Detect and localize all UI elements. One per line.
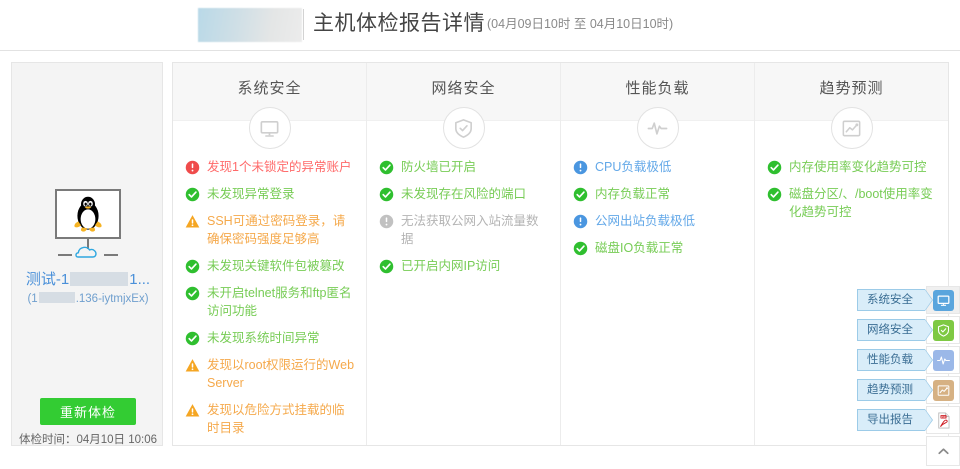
check-item-label: 内存负载正常 (595, 185, 744, 203)
check-item: 已开启内网IP访问 (379, 257, 550, 275)
column-title: 性能负载 (561, 78, 754, 100)
check-item: SSH可通过密码登录，请确保密码强度足够高 (185, 212, 356, 248)
cloud-icon (74, 245, 102, 259)
check-item-label: 发现1个未锁定的异常账户 (207, 158, 356, 176)
report-column-2: 网络安全 防火墙已开启 未发现存在风险的端口 无法获取公网入站流量数据 (367, 63, 561, 445)
host-os-visual (38, 187, 138, 263)
host-name-prefix: 测试-1 (26, 271, 69, 288)
check-item-status (185, 214, 200, 229)
status-ok-icon (767, 187, 782, 202)
pulse-icon (936, 353, 951, 368)
check-item: 未开启telnet服务和ftp匿名访问功能 (185, 284, 356, 320)
shield-icon (936, 323, 951, 338)
check-item-label: 磁盘分区/、/boot使用率变化趋势可控 (789, 185, 938, 221)
check-item-status (185, 286, 200, 301)
pulse-icon (646, 117, 669, 140)
float-nav-item-5[interactable]: 导出报告 PDF (856, 406, 960, 434)
check-item-list: 内存使用率变化趋势可控 磁盘分区/、/boot使用率变化趋势可控 (767, 158, 938, 230)
check-item-status (573, 241, 588, 256)
check-item-label: 发现以危险方式挂载的临时目录 (207, 401, 356, 437)
recheck-button[interactable]: 重新体检 (40, 398, 136, 425)
check-item-status (767, 160, 782, 175)
float-nav-label[interactable]: 网络安全 (857, 319, 925, 341)
check-item-label: CPU负载极低 (595, 158, 744, 176)
float-nav-item-4[interactable]: 趋势预测 (856, 376, 960, 404)
float-nav-label[interactable]: 导出报告 (857, 409, 925, 431)
check-item-label: 磁盘IO负载正常 (595, 239, 744, 257)
check-item: 内存负载正常 (573, 185, 744, 203)
check-item-status (573, 160, 588, 175)
check-item-status (185, 403, 200, 418)
check-item-list: CPU负载极低 内存负载正常 公网出站负载极低 磁盘IO负载正常 (573, 158, 744, 266)
check-item-label: SSH可通过密码登录，请确保密码强度足够高 (207, 212, 356, 248)
status-ok-icon (379, 259, 394, 274)
status-ok-icon (379, 160, 394, 175)
svg-text:PDF: PDF (940, 414, 946, 418)
check-item: 磁盘分区/、/boot使用率变化趋势可控 (767, 185, 938, 221)
floating-section-nav: 系统安全 网络安全 性能负载 趋势预测 导出报告 PDF (856, 286, 960, 436)
status-info-icon (573, 214, 588, 229)
brand-logo-redacted (198, 8, 302, 42)
chevron-up-icon (935, 443, 952, 460)
shield-icon (452, 117, 475, 140)
status-ok-icon (185, 259, 200, 274)
status-ok-icon (185, 331, 200, 346)
status-ok-icon (767, 160, 782, 175)
status-warning-icon (185, 214, 200, 229)
column-icon-badge (637, 107, 679, 149)
report-column-1: 系统安全 发现1个未锁定的异常账户 未发现异常登录 SSH可通过密码登录，请确保… (173, 63, 367, 445)
status-danger-icon (185, 160, 200, 175)
nav-tile-swatch (933, 320, 954, 341)
report-columns: 系统安全 发现1个未锁定的异常账户 未发现异常登录 SSH可通过密码登录，请确保… (172, 62, 949, 446)
cloud-rail-right (104, 254, 118, 256)
check-item-label: 公网出站负载极低 (595, 212, 744, 230)
status-info-icon (573, 160, 588, 175)
check-item-label: 防火墙已开启 (401, 158, 550, 176)
check-item: CPU负载极低 (573, 158, 744, 176)
check-item-status (379, 187, 394, 202)
cloud-rail-left (58, 254, 72, 256)
nav-tile-swatch (933, 380, 954, 401)
column-icon-badge (443, 107, 485, 149)
host-ip-prefix: (1 (27, 293, 37, 305)
check-item: 发现1个未锁定的异常账户 (185, 158, 356, 176)
check-item-status (379, 160, 394, 175)
status-warning-icon (185, 358, 200, 373)
monitor-icon-solid (936, 293, 951, 308)
check-item: 磁盘IO负载正常 (573, 239, 744, 257)
host-instance-id: (1.136-iytmjxEx) (18, 291, 158, 308)
nav-tile-swatch (933, 350, 954, 371)
check-item-label: 未发现异常登录 (207, 185, 356, 203)
check-item: 未发现系统时间异常 (185, 329, 356, 347)
column-icon-badge (831, 107, 873, 149)
check-item-status (185, 160, 200, 175)
column-icon-badge (249, 107, 291, 149)
page-title: 主机体检报告详情 (313, 8, 485, 40)
column-title: 网络安全 (367, 78, 560, 100)
check-item-status (185, 187, 200, 202)
check-item: 未发现存在风险的端口 (379, 185, 550, 203)
check-item-list: 防火墙已开启 未发现存在风险的端口 无法获取公网入站流量数据 已开启内网IP访问 (379, 158, 550, 284)
status-ok-icon (185, 286, 200, 301)
check-item: 无法获取公网入站流量数据 (379, 212, 550, 248)
column-title: 趋势预测 (755, 78, 948, 100)
float-nav-item-1[interactable]: 系统安全 (856, 286, 960, 314)
check-item: 公网出站负载极低 (573, 212, 744, 230)
check-item-label: 未发现系统时间异常 (207, 329, 356, 347)
float-nav-item-3[interactable]: 性能负载 (856, 346, 960, 374)
report-time-range: (04月09日10时 至 04月10日10时) (487, 15, 673, 33)
monitor-icon (258, 117, 281, 140)
check-item-status (185, 259, 200, 274)
nav-tile-swatch (933, 290, 954, 311)
check-item-status (185, 331, 200, 346)
check-item: 未发现异常登录 (185, 185, 356, 203)
report-column-3: 性能负载 CPU负载极低 内存负载正常 公网出站负载极低 磁盘IO负载正常 (561, 63, 755, 445)
status-ok-icon (573, 241, 588, 256)
check-item-status (573, 214, 588, 229)
check-item: 发现以root权限运行的Web Server (185, 356, 356, 392)
trend-chart-icon (840, 117, 863, 140)
back-to-top-button[interactable] (926, 436, 960, 466)
float-nav-item-2[interactable]: 网络安全 (856, 316, 960, 344)
check-item-status (767, 187, 782, 202)
trend-chart-icon (936, 383, 951, 398)
check-item: 内存使用率变化趋势可控 (767, 158, 938, 176)
host-name-suffix: 1... (129, 271, 150, 288)
check-item-label: 未开启telnet服务和ftp匿名访问功能 (207, 284, 356, 320)
check-item-status (379, 259, 394, 274)
check-item-label: 发现以root权限运行的Web Server (207, 356, 356, 392)
host-name-redacted (70, 272, 128, 286)
float-nav-label[interactable]: 系统安全 (857, 289, 925, 311)
check-item-status (573, 187, 588, 202)
check-item-status (379, 214, 394, 229)
check-time-label: 体检时间：04月10日 10:06 (16, 432, 160, 448)
status-warning-icon (185, 403, 200, 418)
column-title: 系统安全 (173, 78, 366, 100)
check-item-status (185, 358, 200, 373)
check-item-label: 无法获取公网入站流量数据 (401, 212, 550, 248)
host-ip-redacted (39, 292, 75, 303)
status-unknown-icon (379, 214, 394, 229)
check-item-list: 发现1个未锁定的异常账户 未发现异常登录 SSH可通过密码登录，请确保密码强度足… (185, 158, 356, 446)
check-item: 未发现关键软件包被篡改 (185, 257, 356, 275)
health-check-report-page: 主机体检报告详情 (04月09日10时 至 04月10日10时) (0, 0, 960, 469)
check-item-label: 未发现关键软件包被篡改 (207, 257, 356, 275)
host-summary-panel: 测试-11... (1.136-iytmjxEx) 重新体检 体检时间：04月1… (11, 62, 163, 446)
status-ok-icon (185, 187, 200, 202)
pdf-icon: PDF (934, 411, 953, 430)
check-item: 发现以危险方式挂载的临时目录 (185, 401, 356, 437)
check-item-label: 已开启内网IP访问 (401, 257, 550, 275)
check-item: 防火墙已开启 (379, 158, 550, 176)
status-ok-icon (573, 187, 588, 202)
header-divider (303, 9, 304, 40)
page-header: 主机体检报告详情 (04月09日10时 至 04月10日10时) (0, 0, 960, 51)
check-item-label: 内存使用率变化趋势可控 (789, 158, 938, 176)
float-nav-label[interactable]: 性能负载 (857, 349, 925, 371)
host-name: 测试-11... (18, 270, 158, 290)
status-ok-icon (379, 187, 394, 202)
check-item-label: 未发现存在风险的端口 (401, 185, 550, 203)
host-ip-suffix: .136-iytmjxEx) (76, 293, 149, 305)
float-nav-label[interactable]: 趋势预测 (857, 379, 925, 401)
